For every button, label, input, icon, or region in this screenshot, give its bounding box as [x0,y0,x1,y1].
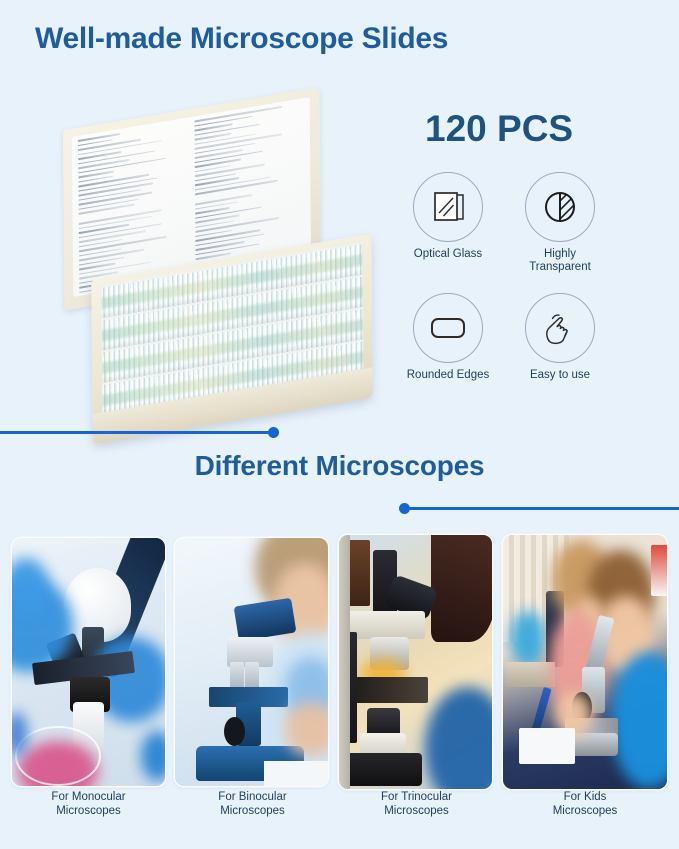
section-title: Different Microscopes [0,450,679,482]
hand [285,702,328,757]
rounded-rectangle-icon [425,305,471,351]
feature-icon-frame [525,293,595,363]
divider-line-bottom [410,507,679,510]
person-head-silhouette [431,535,492,642]
caption-line2: Microscopes [384,805,449,817]
caption-line1: For Binocular [218,791,286,803]
caption-line1: For Kids [564,791,607,803]
photo-monocular-microscope [12,538,165,786]
petri-dish-rim [15,726,101,786]
product-image-slide-box [52,108,384,426]
blue-lab-item [141,731,165,781]
quantity-badge: 120 PCS [425,108,573,150]
slide-box-illustration [52,108,384,426]
half-hatched-circle-icon [538,185,582,229]
caption-line1: For Monocular [51,791,125,803]
caption-trinocular: For Trinocular Microscopes [338,790,495,819]
feature-grid: Optical Glass [398,172,623,383]
caption-kids: For Kids Microscopes [502,790,668,819]
photo-trinocular-microscope [339,535,492,789]
photo-art [12,538,165,786]
divider-dot-bottom [399,503,410,514]
feature-row-2: Rounded Edges [398,293,623,382]
page-title: Well-made Microscope Slides [35,22,448,56]
feature-label: Easy to use [530,369,590,382]
photo-art [503,535,667,789]
feature-label: Optical Glass [414,248,482,261]
background-decor [651,545,667,596]
caption-line2: Microscopes [553,805,618,817]
feature-label: Rounded Edges [407,369,489,382]
window-frame [339,535,350,789]
feature-row-1: Optical Glass [398,172,623,274]
notebook [264,761,328,786]
feature-rounded-edges: Rounded Edges [398,293,498,382]
glass-panes-icon [426,185,470,229]
photo-art [339,535,492,789]
microscope-body [348,611,425,639]
divider-line-top [0,431,275,434]
product-infographic: Well-made Microscope Slides 120 PC [0,0,679,849]
tap-hand-icon [537,305,583,351]
feature-icon-frame [413,293,483,363]
caption-binocular: For Binocular Microscopes [174,790,331,819]
photo-art [175,538,328,786]
caption-line2: Microscopes [56,805,121,817]
blue-scrubs [425,687,492,789]
divider-dot-top [268,427,279,438]
mechanical-stage [348,677,428,702]
feature-icon-frame [525,172,595,242]
feature-highly-transparent: Highly Transparent [510,172,610,274]
feature-label-line1: Highly [544,248,576,260]
caption-monocular: For Monocular Microscopes [10,790,167,819]
microscope-photo-strip [0,530,679,790]
notebook [519,728,575,764]
globe [510,611,546,667]
microscope-base [342,753,422,786]
feature-optical-glass: Optical Glass [398,172,498,274]
feature-icon-frame [413,172,483,242]
photo-binocular-microscope [175,538,328,786]
photo-kids-microscope [503,535,667,789]
photo-captions: For Monocular Microscopes For Binocular … [0,790,679,835]
caption-line2: Microscopes [220,805,285,817]
feature-easy-to-use: Easy to use [510,293,610,382]
caption-line1: For Trinocular [381,791,452,803]
feature-label: Highly Transparent [529,248,591,274]
boy-blue-shirt [611,652,667,789]
feature-label-line2: Transparent [529,261,591,273]
